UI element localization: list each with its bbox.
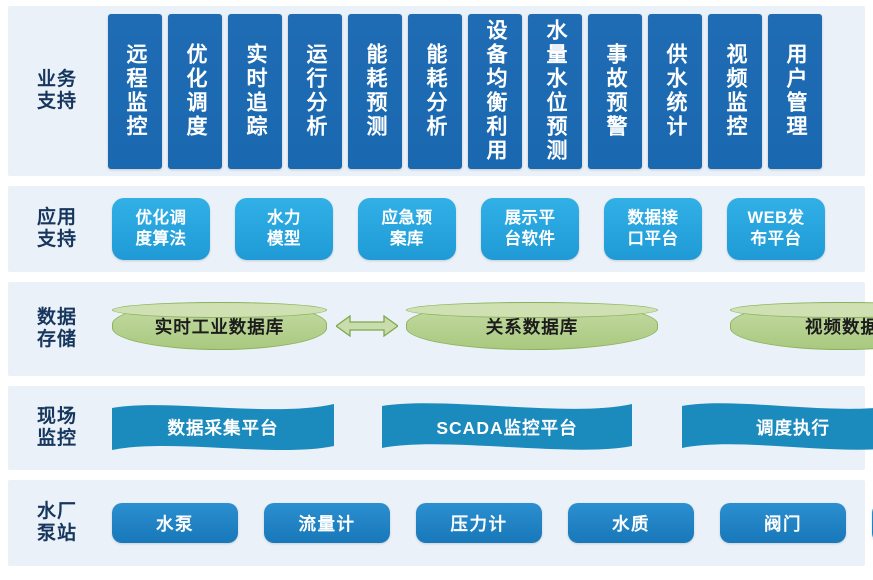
device-item-water-quality[interactable]: 水质 [568,503,694,543]
device-item-valve[interactable]: 阀门 [720,503,846,543]
field-item-data-acquisition-platform[interactable]: 数据采集平台 [112,402,334,454]
row-label-line-1: 应用 [37,207,77,229]
row-label-line-2: 监控 [37,428,77,450]
row-label-waterworks-pumping-station: 水厂 泵站 [18,480,96,566]
row-label-field-monitoring: 现场 监控 [18,386,96,470]
business-item-water-supply-statistics[interactable]: 供水统计 [648,14,702,169]
row-body-business-support: 远程监控 优化调度 实时追踪 运行分析 能耗预测 能耗分析 设备均衡利用 水量水… [108,6,859,176]
layer-row-waterworks-pumping-station: 水厂 泵站 水泵 流量计 压力计 水质 阀门 辅助设备 [8,480,865,566]
layer-row-data-storage: 数据 存储 实时工业数据库 关系数据库 视频数据 [8,282,865,376]
row-label-line-1: 现场 [37,406,77,428]
app-item-optimization-algorithm[interactable]: 优化调度算法 [112,198,210,260]
row-label-business-support: 业务 支持 [18,6,96,176]
storage-item-realtime-industrial-database[interactable]: 实时工业数据库 [112,302,327,350]
business-item-user-management[interactable]: 用户管理 [768,14,822,169]
business-item-realtime-tracking[interactable]: 实时追踪 [228,14,282,169]
double-arrow-icon [336,315,398,337]
business-item-operation-analysis[interactable]: 运行分析 [288,14,342,169]
app-item-hydraulic-model[interactable]: 水力模型 [235,198,333,260]
device-item-flow-meter[interactable]: 流量计 [264,503,390,543]
row-label-application-support: 应用 支持 [18,186,96,272]
app-item-display-platform-software[interactable]: 展示平台软件 [481,198,579,260]
storage-item-relational-database[interactable]: 关系数据库 [406,302,658,350]
app-item-emergency-plan-library[interactable]: 应急预案库 [358,198,456,260]
layer-row-business-support: 业务 支持 远程监控 优化调度 实时追踪 运行分析 能耗预测 能耗分析 设备均衡… [8,6,865,176]
layer-row-field-monitoring: 现场 监控 数据采集平台 SCADA监控平台 调度执行 [8,386,865,470]
business-item-accident-warning[interactable]: 事故预警 [588,14,642,169]
business-item-water-level-forecast[interactable]: 水量水位预测 [528,14,582,169]
device-item-pressure-gauge[interactable]: 压力计 [416,503,542,543]
app-item-data-interface-platform[interactable]: 数据接口平台 [604,198,702,260]
business-item-optimized-dispatch[interactable]: 优化调度 [168,14,222,169]
business-item-equipment-balanced-use[interactable]: 设备均衡利用 [468,14,522,169]
row-body-waterworks-pumping-station: 水泵 流量计 压力计 水质 阀门 辅助设备 [108,480,859,566]
row-label-line-1: 数据 [37,307,77,329]
row-label-line-1: 水厂 [37,501,77,523]
architecture-diagram: 业务 支持 远程监控 优化调度 实时追踪 运行分析 能耗预测 能耗分析 设备均衡… [0,0,873,580]
row-label-data-storage: 数据 存储 [18,282,96,376]
field-item-scada-monitoring-platform[interactable]: SCADA监控平台 [382,402,632,454]
row-label-line-2: 存储 [37,329,77,351]
row-label-line-1: 业务 [37,69,77,91]
field-item-dispatch-execution[interactable]: 调度执行 [682,402,873,454]
row-label-line-2: 支持 [37,229,77,251]
business-item-energy-forecast[interactable]: 能耗预测 [348,14,402,169]
storage-item-video-data[interactable]: 视频数据 [730,302,873,350]
layer-row-application-support: 应用 支持 优化调度算法 水力模型 应急预案库 展示平台软件 数据接口平台 WE… [8,186,865,272]
business-item-video-monitoring[interactable]: 视频监控 [708,14,762,169]
row-label-line-2: 泵站 [37,523,77,545]
business-item-remote-monitoring[interactable]: 远程监控 [108,14,162,169]
row-label-line-2: 支持 [37,91,77,113]
business-item-energy-analysis[interactable]: 能耗分析 [408,14,462,169]
app-item-web-publishing-platform[interactable]: WEB发布平台 [727,198,825,260]
row-body-application-support: 优化调度算法 水力模型 应急预案库 展示平台软件 数据接口平台 WEB发布平台 [108,186,859,272]
device-item-water-pump[interactable]: 水泵 [112,503,238,543]
